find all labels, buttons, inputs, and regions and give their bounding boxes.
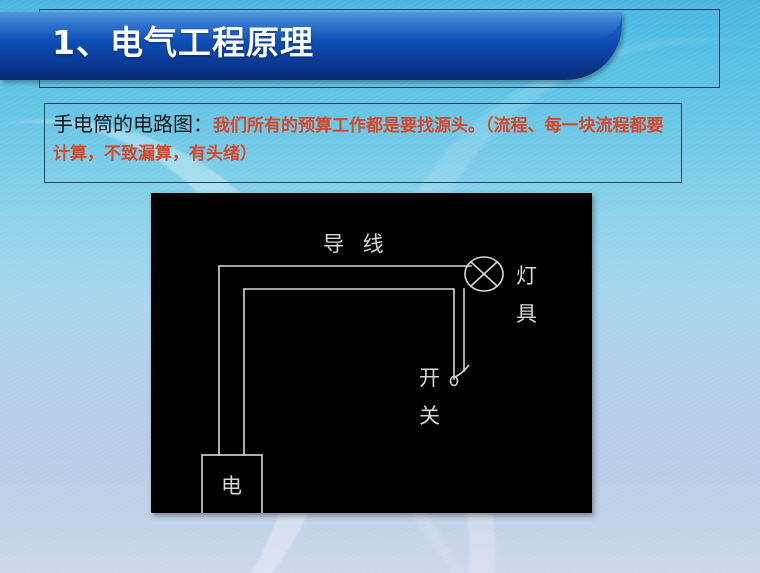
note-box: 手电筒的电路图：我们所有的预算工作都是要找源头。（流程、每一块流程都要计算，不致…: [44, 103, 682, 183]
circuit-diagram-svg: 导 线 灯 具 开 关 电 源: [151, 193, 592, 513]
page-title: 1、电气工程原理: [52, 16, 314, 64]
label-wire: 导 线: [323, 232, 390, 256]
label-switch-char1: 开: [419, 366, 440, 390]
label-source-char2: 源: [221, 512, 242, 513]
note-line: 手电筒的电路图：我们所有的预算工作都是要找源头。（流程、每一块流程都要计算，不致…: [53, 110, 673, 168]
label-lamp-char1: 灯: [516, 264, 537, 288]
label-source-char1: 电: [221, 474, 242, 498]
label-lamp-char2: 具: [516, 302, 537, 326]
slide-canvas: 1、电气工程原理 手电筒的电路图：我们所有的预算工作都是要找源头。（流程、每一块…: [0, 0, 760, 573]
circuit-diagram-panel: 导 线 灯 具 开 关 电 源: [151, 193, 592, 513]
lamp-icon: [465, 257, 503, 291]
note-heading: 手电筒的电路图：: [53, 112, 213, 136]
label-switch-char2: 关: [419, 404, 440, 428]
